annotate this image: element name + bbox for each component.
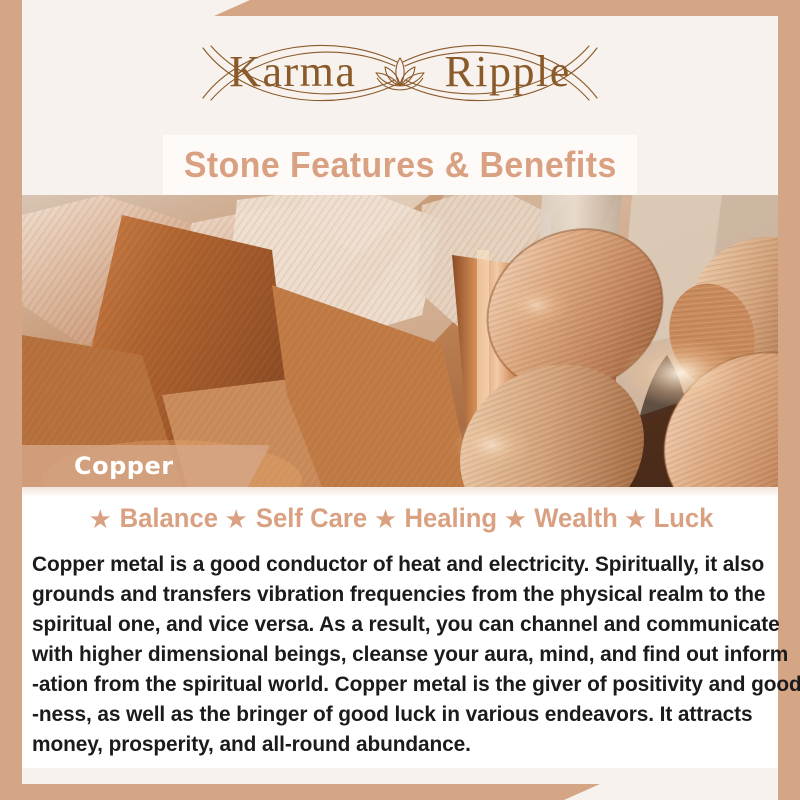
description-text: Copper metal is a good conductor of heat… xyxy=(32,549,772,759)
content-panel: ★ Balance ★ Self Care ★ Healing ★ Wealth… xyxy=(22,487,778,768)
corner-band-top-right xyxy=(214,0,800,16)
feature-label: Healing xyxy=(405,503,498,534)
border-left xyxy=(0,0,22,800)
lotus-icon xyxy=(368,51,432,95)
description-line: money, prosperity, and all-round abundan… xyxy=(32,729,750,759)
star-icon: ★ xyxy=(89,506,112,532)
corner-band-bottom-left xyxy=(0,784,600,800)
feature-item-healing: ★ Healing xyxy=(370,503,500,534)
photo-caption-band: Copper xyxy=(22,445,270,487)
panel-top-fade xyxy=(22,487,778,497)
feature-item-self-care: ★ Self Care xyxy=(220,503,369,534)
feature-item-wealth: ★ Wealth xyxy=(500,503,620,534)
logo-word-ripple: Ripple xyxy=(444,50,570,94)
star-icon: ★ xyxy=(374,506,397,532)
description-line: spiritual one, and vice versa. As a resu… xyxy=(32,609,750,639)
brand-logo: Karma Ripple xyxy=(0,26,800,118)
copper-bars-photo: Copper xyxy=(22,195,778,487)
features-row: ★ Balance ★ Self Care ★ Healing ★ Wealth… xyxy=(22,503,778,534)
feature-label: Self Care xyxy=(256,503,367,534)
feature-label: Wealth xyxy=(534,503,618,534)
star-icon: ★ xyxy=(624,506,647,532)
page-root: Karma Ripple Stone Features & Benefits xyxy=(0,0,800,800)
feature-item-luck: ★ Luck xyxy=(620,503,715,534)
feature-item-balance: ★ Balance xyxy=(85,503,221,534)
star-icon: ★ xyxy=(224,506,247,532)
photo-artwork xyxy=(22,195,778,487)
feature-label: Balance xyxy=(120,503,218,534)
description-line: Copper metal is a good conductor of heat… xyxy=(32,549,750,579)
feature-label: Luck xyxy=(654,503,714,534)
stone-name-label: Copper xyxy=(74,452,174,480)
star-icon: ★ xyxy=(504,506,527,532)
description-line: -ation from the spiritual world. Copper … xyxy=(32,669,750,699)
title-banner: Stone Features & Benefits xyxy=(163,135,637,195)
page-title: Stone Features & Benefits xyxy=(184,144,617,186)
logo-word-karma: Karma xyxy=(229,50,356,94)
description-line: grounds and transfers vibration frequenc… xyxy=(32,579,750,609)
description-line: -ness, as well as the bringer of good lu… xyxy=(32,699,750,729)
description-line: with higher dimensional beings, cleanse … xyxy=(32,639,750,669)
